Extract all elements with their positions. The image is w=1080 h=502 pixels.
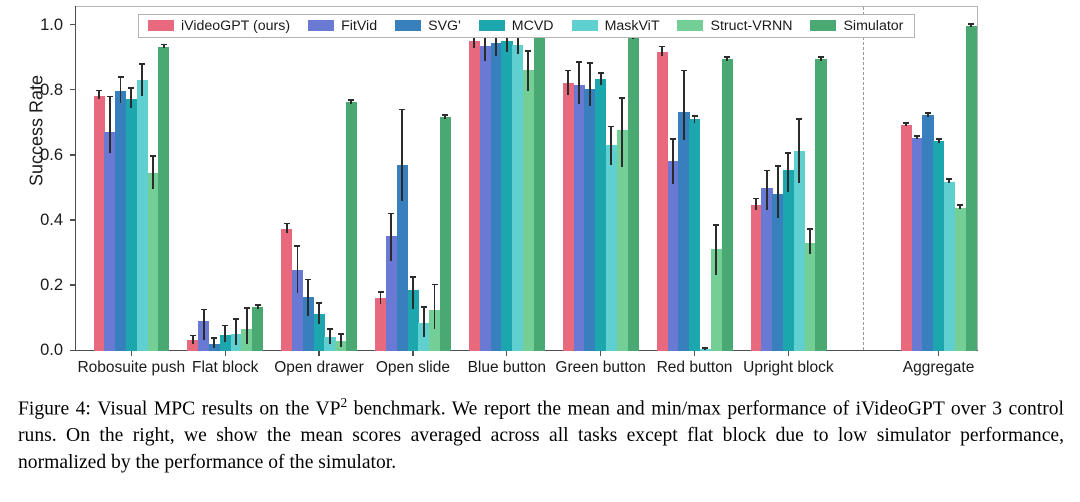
error-bar-cap-top: [925, 112, 931, 114]
bar: [512, 45, 523, 351]
x-tick-label: Open drawer: [274, 359, 364, 377]
x-tick-mark: [318, 351, 319, 356]
bar: [104, 132, 115, 351]
error-bar-cap-top: [598, 72, 604, 74]
bar: [628, 37, 639, 351]
x-tick-mark: [694, 351, 695, 356]
error-bar: [766, 170, 768, 210]
bar: [491, 43, 502, 351]
error-bar-cap-top: [399, 109, 405, 111]
aggregate-divider: [863, 7, 864, 350]
bar: [761, 188, 772, 351]
error-bar: [672, 139, 674, 185]
bar: [606, 145, 617, 351]
bar: [126, 99, 137, 351]
legend-swatch-icon: [308, 20, 334, 31]
error-bar-cap-top: [233, 318, 239, 320]
error-bar-cap-top: [775, 165, 781, 167]
legend-item: Struct-VRNN: [677, 19, 792, 33]
error-bar: [809, 229, 811, 254]
error-bar: [787, 153, 789, 192]
error-bar-cap-top: [421, 306, 427, 308]
error-bar-cap-top: [442, 114, 448, 116]
error-bar: [130, 88, 132, 108]
error-bar: [152, 156, 154, 189]
legend-item: MCVD: [479, 19, 554, 33]
error-bar-cap-top: [713, 224, 719, 226]
error-bar: [329, 329, 331, 344]
bar: [966, 26, 977, 351]
legend-swatch-icon: [810, 20, 836, 31]
error-bar: [286, 223, 288, 233]
error-bar: [307, 279, 309, 315]
legend-label: MaskViT: [605, 19, 660, 33]
legend-item: FitVid: [308, 19, 377, 33]
caption-line1: Visual MPC results on the VP: [97, 399, 340, 420]
y-axis-label: Success Rate: [27, 31, 48, 231]
error-bar-cap-top: [525, 50, 531, 52]
error-bar-cap-top: [410, 276, 416, 278]
x-tick-mark: [131, 351, 132, 356]
legend-label: Simulator: [843, 19, 903, 33]
caption-figure-number: Figure 4:: [18, 399, 91, 420]
x-tick-mark: [788, 351, 789, 356]
error-bar: [715, 225, 717, 275]
error-bar: [120, 77, 122, 103]
error-bar-cap-top: [692, 115, 698, 117]
bar-chart-figure: 0.00.20.40.60.81.0 Success Rate Robosuit…: [0, 0, 1080, 390]
bar: [668, 161, 679, 351]
error-bar: [235, 319, 237, 345]
bar: [281, 229, 292, 351]
error-bar-cap-top: [378, 291, 384, 293]
legend-label: Struct-VRNN: [710, 19, 792, 33]
legend-item: SVG': [395, 19, 461, 33]
x-tick-mark: [225, 351, 226, 356]
error-bar-cap-top: [255, 304, 261, 306]
error-bar-cap-top: [222, 325, 228, 327]
error-bar: [527, 51, 529, 91]
error-bar-cap-top: [565, 70, 571, 72]
bar: [722, 59, 733, 351]
error-bar-cap-top: [128, 87, 134, 89]
error-bar: [600, 73, 602, 85]
bar: [901, 125, 912, 351]
error-bar-cap-top: [946, 178, 952, 180]
bar: [678, 112, 689, 351]
error-bar: [423, 307, 425, 337]
error-bar: [610, 126, 612, 164]
bar: [912, 138, 923, 351]
error-bar-cap-top: [903, 122, 909, 124]
error-bar-cap-top: [201, 309, 207, 311]
error-bar-cap-top: [957, 204, 963, 206]
error-bar-cap-top: [316, 302, 322, 304]
legend-swatch-icon: [148, 20, 174, 31]
error-bar-cap-top: [432, 284, 438, 286]
bar: [955, 208, 966, 351]
error-bar-cap-top: [107, 96, 113, 98]
bar: [933, 141, 944, 351]
bar: [375, 298, 386, 351]
legend-item: Simulator: [810, 19, 903, 33]
error-bar: [621, 98, 623, 167]
error-bar-cap-top: [587, 62, 593, 64]
y-tick-label: 0.0: [17, 342, 63, 359]
error-bar-cap-top: [968, 23, 974, 25]
error-bar: [98, 91, 100, 99]
bar: [137, 80, 148, 351]
error-bar: [318, 303, 320, 324]
bar: [944, 182, 955, 351]
error-bar-cap-top: [294, 245, 300, 247]
legend-label: MCVD: [512, 19, 554, 33]
error-bar: [694, 116, 696, 123]
error-bar-cap-top: [244, 307, 250, 309]
bar: [783, 170, 794, 351]
y-tick-label: 0.2: [17, 277, 63, 294]
chart-legend: iVideoGPT (ours)FitVidSVG'MCVDMaskViTStr…: [138, 14, 915, 38]
bar: [805, 243, 816, 351]
bar: [523, 70, 534, 351]
legend-label: SVG': [428, 19, 461, 33]
x-tick-mark: [412, 351, 413, 356]
error-bar-cap-top: [914, 135, 920, 137]
bar: [595, 79, 606, 351]
error-bar: [589, 63, 591, 106]
x-tick-label: Flat block: [192, 359, 258, 377]
x-tick-label: Upright block: [743, 359, 833, 377]
legend-swatch-icon: [395, 20, 421, 31]
error-bar: [401, 110, 403, 201]
bar: [922, 115, 933, 351]
error-bar: [109, 97, 111, 154]
x-tick-label: Blue button: [468, 359, 546, 377]
bar: [440, 117, 451, 351]
bar: [469, 41, 480, 351]
legend-swatch-icon: [677, 20, 703, 31]
x-tick-mark: [938, 351, 939, 356]
error-bar: [434, 284, 436, 329]
x-tick-label: Open slide: [376, 359, 450, 377]
bar: [115, 91, 126, 351]
bar: [94, 96, 105, 351]
x-tick-label: Red button: [657, 359, 733, 377]
legend-item: iVideoGPT (ours): [148, 19, 290, 33]
error-bar: [224, 326, 226, 342]
error-bar: [567, 70, 569, 94]
error-bar-cap-top: [190, 335, 196, 337]
error-bar-cap-top: [118, 76, 124, 78]
error-bar-cap-top: [681, 70, 687, 72]
error-bar-cap-top: [619, 97, 625, 99]
error-bar-cap-top: [796, 118, 802, 120]
error-bar: [141, 64, 143, 97]
error-bar: [798, 119, 800, 183]
figure-caption: Figure 4: Visual MPC results on the VP2 …: [18, 394, 1064, 477]
error-bar: [661, 47, 663, 57]
legend-item: MaskViT: [572, 19, 660, 33]
error-bar: [380, 292, 382, 305]
bar: [657, 52, 668, 351]
error-bar-cap-top: [284, 223, 290, 225]
error-bar: [683, 70, 685, 140]
legend-swatch-icon: [479, 20, 505, 31]
error-bar: [412, 277, 414, 310]
legend-label: FitVid: [341, 19, 377, 33]
error-bar-cap-top: [161, 44, 167, 46]
legend-swatch-icon: [572, 20, 598, 31]
error-bar-cap-top: [936, 138, 942, 140]
error-bar: [777, 166, 779, 218]
error-bar: [192, 335, 194, 343]
error-bar-cap-top: [807, 228, 813, 230]
bar: [158, 47, 169, 351]
bars-layer: [75, 6, 978, 351]
bar: [346, 102, 357, 351]
bar: [574, 85, 585, 351]
bar: [252, 307, 263, 351]
x-tick-mark: [600, 351, 601, 356]
error-bar-cap-top: [724, 56, 730, 58]
error-bar-cap-top: [785, 152, 791, 154]
error-bar-cap-top: [608, 126, 614, 128]
error-bar-cap-top: [818, 56, 824, 58]
bar: [815, 59, 826, 351]
x-tick-label: Aggregate: [903, 359, 975, 377]
error-bar-cap-top: [670, 138, 676, 140]
error-bar-cap-top: [576, 61, 582, 63]
x-tick-label: Robosuite push: [77, 359, 185, 377]
error-bar-cap-top: [764, 170, 770, 172]
error-bar-cap-top: [96, 90, 102, 92]
error-bar-cap-top: [327, 328, 333, 330]
x-tick-mark: [506, 351, 507, 356]
legend-label: iVideoGPT (ours): [181, 19, 290, 33]
error-bar: [203, 309, 205, 339]
error-bar-cap-top: [753, 198, 759, 200]
error-bar-cap-top: [305, 279, 311, 281]
error-bar-cap-top: [150, 155, 156, 157]
error-bar: [213, 338, 215, 348]
bar: [480, 46, 491, 351]
x-tick-label: Green button: [555, 359, 645, 377]
error-bar-cap-top: [702, 347, 708, 349]
error-bar-cap-top: [388, 213, 394, 215]
error-bar: [246, 308, 248, 344]
error-bar-cap-top: [139, 63, 145, 65]
figure-page: 0.00.20.40.60.81.0 Success Rate Robosuit…: [0, 0, 1080, 502]
bar: [148, 173, 159, 351]
bar: [751, 205, 762, 351]
bar: [501, 41, 512, 351]
error-bar-cap-top: [211, 337, 217, 339]
error-bar-cap-top: [348, 99, 354, 101]
bar: [584, 89, 595, 351]
bar: [534, 26, 545, 351]
error-bar: [755, 199, 757, 211]
error-bar: [390, 214, 392, 261]
error-bar: [578, 62, 580, 104]
bar: [689, 119, 700, 351]
bar: [563, 83, 574, 352]
error-bar-cap-top: [659, 46, 665, 48]
error-bar: [517, 36, 519, 54]
error-bar-cap-top: [338, 333, 344, 335]
error-bar: [297, 246, 299, 293]
error-bar: [340, 334, 342, 347]
